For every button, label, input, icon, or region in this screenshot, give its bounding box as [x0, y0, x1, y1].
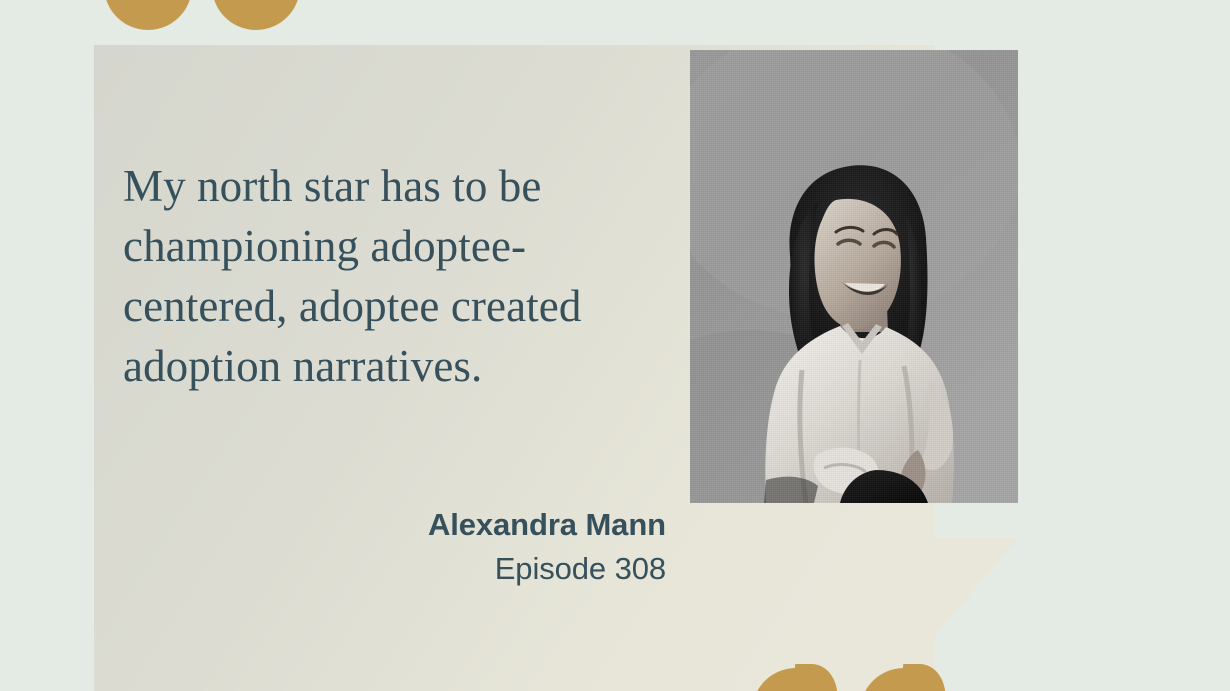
quotation-mark-open-icon — [104, 0, 192, 30]
quote-line: centered, adoptee created — [123, 276, 693, 336]
portrait-image — [690, 50, 1018, 503]
quote-card-canvas: My north star has to be championing adop… — [0, 0, 1230, 691]
quote-attribution: Alexandra Mann Episode 308 — [133, 503, 666, 591]
speaker-name: Alexandra Mann — [133, 503, 666, 547]
speaker-portrait-photo — [690, 50, 1018, 503]
quote-line: My north star has to be — [123, 156, 693, 216]
quote-line: adoption narratives. — [123, 336, 693, 396]
quote-line: championing adoptee- — [123, 216, 693, 276]
episode-label: Episode 308 — [133, 547, 666, 591]
quotation-mark-open-icon — [212, 0, 300, 30]
quote-text: My north star has to be championing adop… — [123, 156, 693, 396]
